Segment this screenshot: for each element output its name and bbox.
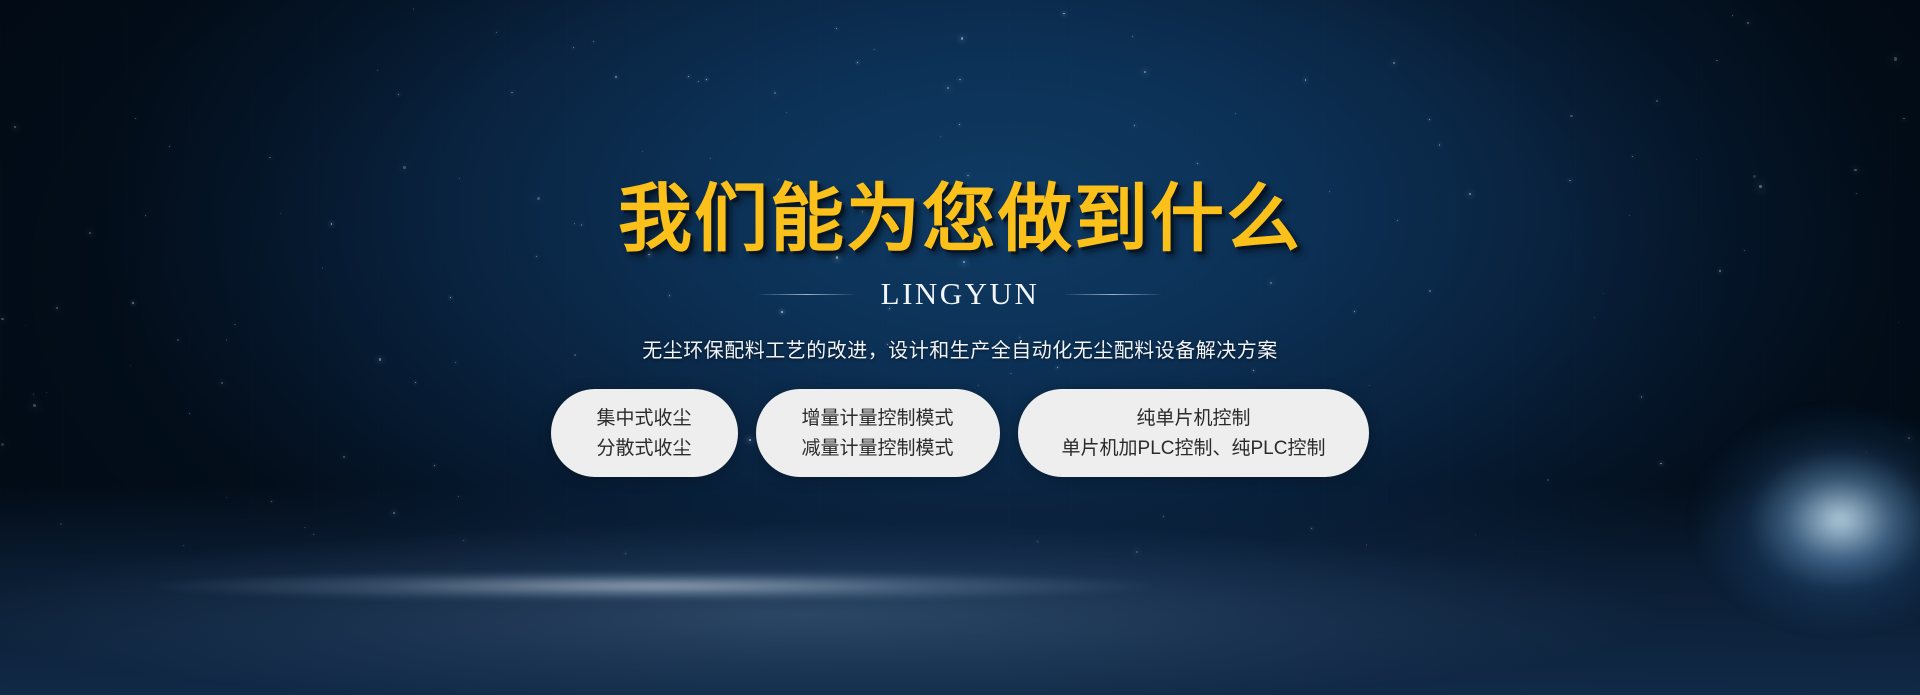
pill-line-secondary: 分散式收尘	[597, 439, 692, 458]
page-subtitle: 无尘环保配料工艺的改进，设计和生产全自动化无尘配料设备解决方案	[642, 334, 1278, 363]
pill-line-secondary: 减量计量控制模式	[802, 439, 954, 458]
feature-pill-dust-collection[interactable]: 集中式收尘 分散式收尘	[551, 389, 738, 477]
divider-line-left	[759, 294, 855, 295]
pill-line-primary: 增量计量控制模式	[802, 409, 954, 428]
page-title: 我们能为您做到什么	[618, 182, 1302, 256]
pill-line-primary: 集中式收尘	[597, 409, 692, 428]
feature-pill-group: 集中式收尘 分散式收尘 增量计量控制模式 减量计量控制模式 纯单片机控制 单片机…	[551, 389, 1370, 477]
pill-line-primary: 纯单片机控制	[1137, 409, 1251, 428]
pill-line-secondary: 单片机加PLC控制、纯PLC控制	[1062, 439, 1326, 458]
feature-pill-control-system[interactable]: 纯单片机控制 单片机加PLC控制、纯PLC控制	[1018, 389, 1370, 477]
brand-row: LINGYUN	[759, 276, 1162, 312]
banner-content: 我们能为您做到什么 LINGYUN 无尘环保配料工艺的改进，设计和生产全自动化无…	[0, 0, 1920, 695]
divider-line-right	[1065, 294, 1161, 295]
hero-banner: 我们能为您做到什么 LINGYUN 无尘环保配料工艺的改进，设计和生产全自动化无…	[0, 0, 1920, 695]
brand-name: LINGYUN	[881, 276, 1040, 312]
feature-pill-metering-mode[interactable]: 增量计量控制模式 减量计量控制模式	[756, 389, 1000, 477]
